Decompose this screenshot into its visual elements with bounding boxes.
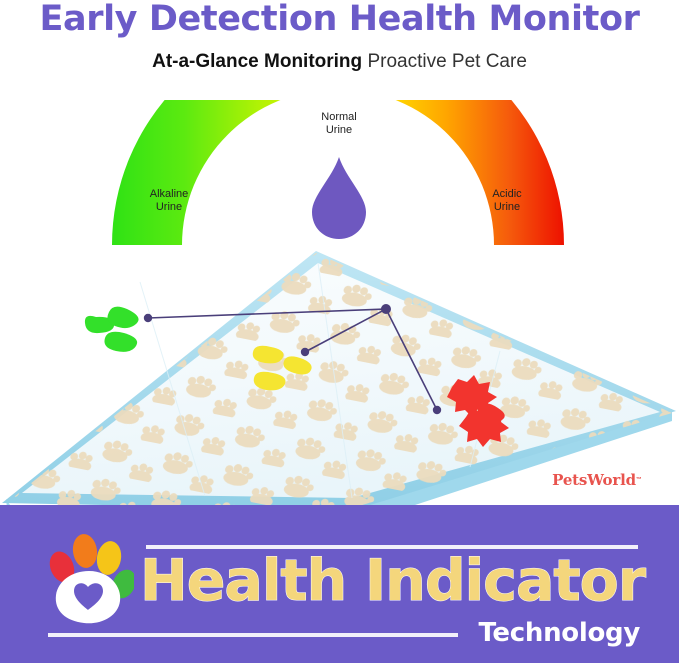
gauge-label-alkaline-line1: Alkaline bbox=[130, 188, 208, 201]
acidic-node bbox=[433, 406, 441, 414]
gauge-label-acidic-line2: Urine bbox=[468, 201, 546, 214]
banner-title: Health Indicator bbox=[140, 546, 660, 616]
petsworld-brand-text: PetsWorld bbox=[552, 471, 636, 489]
alkaline-stain bbox=[85, 307, 139, 352]
alkaline-node bbox=[144, 314, 152, 322]
subtitle-regular-part: Proactive Pet Care bbox=[367, 51, 526, 72]
trademark-icon: ™ bbox=[636, 477, 642, 483]
gauge-label-acidic: Acidic Urine bbox=[468, 188, 546, 214]
paw-heart-logo bbox=[48, 527, 134, 627]
gauge-label-alkaline-line2: Urine bbox=[130, 201, 208, 214]
page-title: Early Detection Health Monitor bbox=[0, 0, 679, 40]
gauge-label-normal-line2: Urine bbox=[299, 124, 379, 137]
gauge-label-acidic-line1: Acidic bbox=[468, 188, 546, 201]
gauge-label-normal-line1: Normal bbox=[299, 111, 379, 124]
page-subtitle: At-a-Glance Monitoring Proactive Pet Car… bbox=[0, 50, 679, 74]
banner-subtitle: Technology bbox=[330, 617, 640, 649]
logo-toe-orange bbox=[71, 532, 99, 569]
product-infographic: Early Detection Health Monitor At-a-Glan… bbox=[0, 0, 679, 663]
header: Early Detection Health Monitor At-a-Glan… bbox=[0, 0, 679, 88]
petsworld-brand-badge: PetsWorld™ bbox=[534, 467, 660, 493]
subtitle-bold-part: At-a-Glance Monitoring bbox=[152, 51, 362, 72]
indicator-hub bbox=[381, 304, 391, 314]
normal-node bbox=[301, 348, 309, 356]
health-indicator-banner: Health Indicator Technology bbox=[0, 505, 679, 663]
gauge-label-normal: Normal Urine bbox=[299, 111, 379, 137]
logo-toe-yellow bbox=[94, 539, 124, 577]
gauge-label-alkaline: Alkaline Urine bbox=[130, 188, 208, 214]
